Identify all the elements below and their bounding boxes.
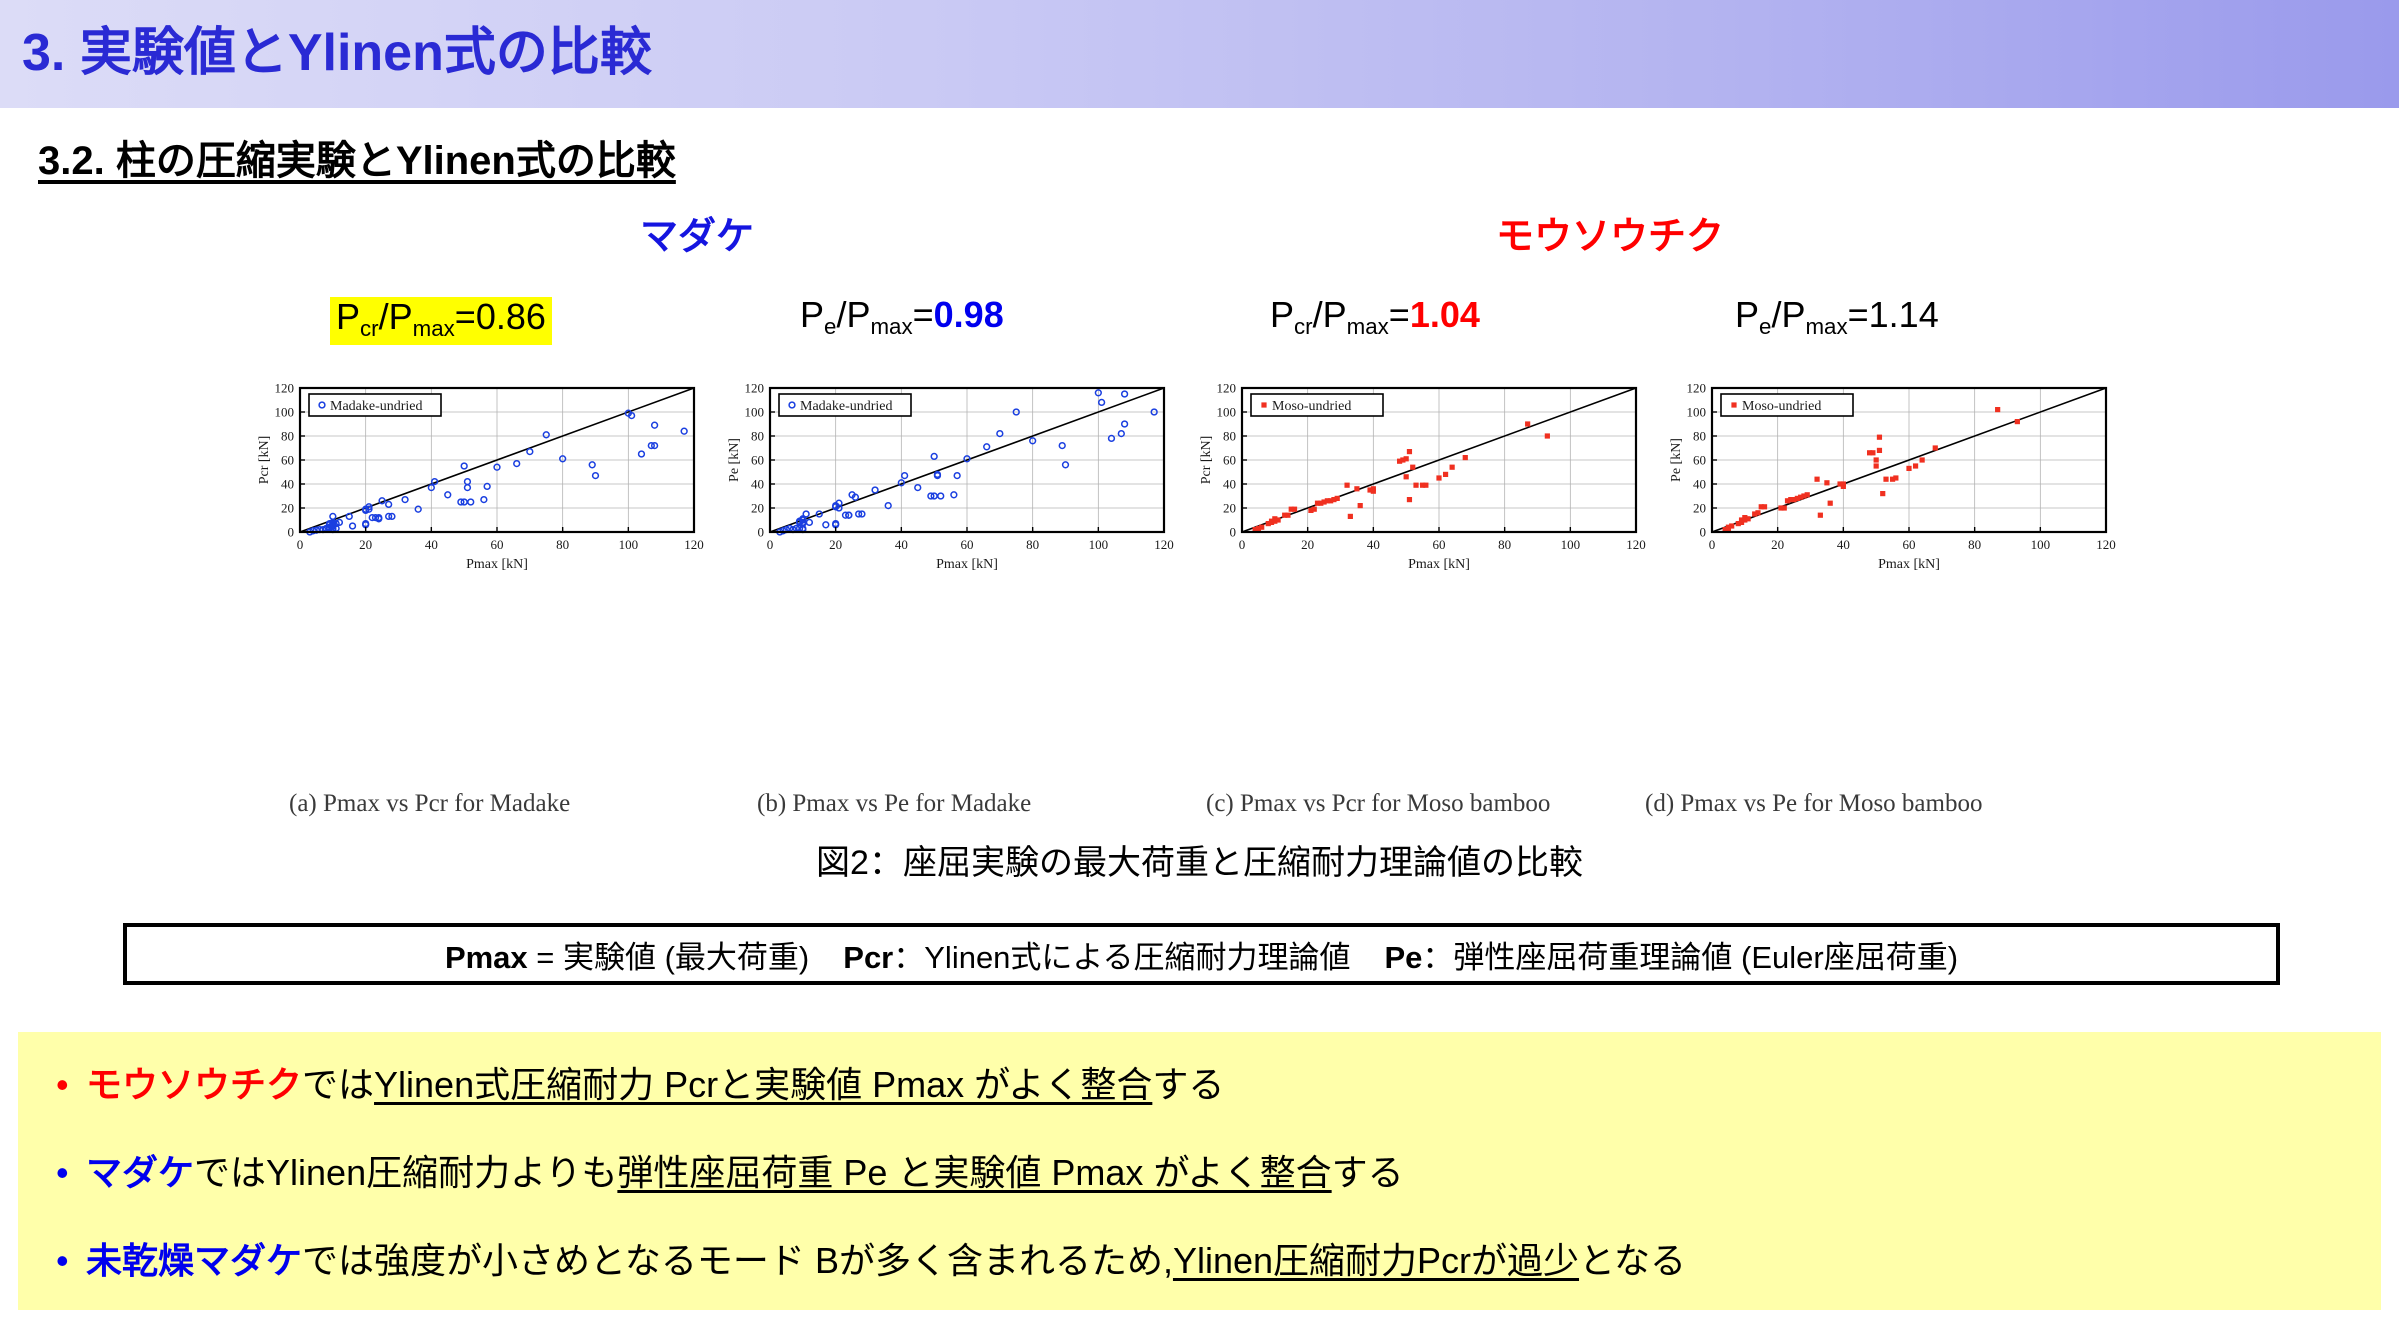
conclusion-bullet-2: • マダケ ではYlinen圧縮耐力よりも 弾性座屈荷重 Pe と実験値 Pma… bbox=[56, 1144, 1404, 1196]
ratio-numerator: P bbox=[800, 294, 824, 335]
svg-text:40: 40 bbox=[1693, 477, 1706, 492]
svg-text:80: 80 bbox=[1968, 537, 1981, 552]
svg-text:80: 80 bbox=[1026, 537, 1039, 552]
page-title: 3. 実験値とYlinen式の比較 bbox=[22, 10, 652, 85]
ratio-numerator-sub: e bbox=[1759, 314, 1771, 339]
scatter-plot-b: 020406080100120020406080100120Pmax [kN]P… bbox=[708, 378, 1178, 578]
svg-text:20: 20 bbox=[751, 501, 764, 516]
svg-text:120: 120 bbox=[275, 381, 295, 396]
ratio-value: 0.98 bbox=[934, 294, 1004, 335]
svg-text:120: 120 bbox=[1687, 381, 1707, 396]
ratio-denominator-sub: max bbox=[870, 314, 912, 339]
ratio-label-b: Pe/Pmax=0.98 bbox=[800, 297, 1004, 338]
ratio-slash: / bbox=[379, 296, 389, 337]
svg-text:0: 0 bbox=[1239, 537, 1246, 552]
svg-text:120: 120 bbox=[1154, 537, 1174, 552]
svg-text:100: 100 bbox=[2031, 537, 2050, 552]
ratio-denominator-sub: max bbox=[1805, 314, 1847, 339]
scatter-panel-c: 020406080100120020406080100120Pmax [kN]P… bbox=[1180, 378, 1650, 578]
term-pcr: Pcr bbox=[843, 940, 893, 975]
conclusion-keyword: モウソウチク bbox=[86, 1056, 302, 1108]
legend-label: Madake-undried bbox=[330, 399, 423, 414]
svg-text:120: 120 bbox=[684, 537, 704, 552]
svg-text:40: 40 bbox=[895, 537, 908, 552]
svg-text:80: 80 bbox=[1223, 429, 1236, 444]
section-subtitle: 3.2. 柱の圧縮実験とYlinen式の比較 bbox=[38, 128, 676, 186]
x-axis-label: Pmax [kN] bbox=[466, 557, 528, 572]
conclusion-tail-text: する bbox=[1332, 1144, 1404, 1196]
ratio-value: 0.86 bbox=[476, 296, 546, 337]
svg-text:100: 100 bbox=[1089, 537, 1109, 552]
svg-text:20: 20 bbox=[1693, 501, 1706, 516]
legend-label: Moso-undried bbox=[1272, 399, 1351, 414]
ratio-denominator-sub: max bbox=[1347, 314, 1389, 339]
y-axis-label: Pe [kN] bbox=[1669, 438, 1684, 482]
conclusion-keyword: マダケ bbox=[86, 1144, 194, 1196]
svg-text:120: 120 bbox=[1217, 381, 1237, 396]
scatter-plot-d: 020406080100120020406080100120Pmax [kN]P… bbox=[1650, 378, 2120, 578]
svg-text:80: 80 bbox=[281, 429, 294, 444]
figure-2-panel-strip: 020406080100120020406080100120Pmax [kN]P… bbox=[238, 378, 2184, 598]
bullet-marker-icon: • bbox=[56, 1067, 86, 1103]
y-axis-label: Pcr [kN] bbox=[257, 436, 272, 485]
ratio-denominator-sub: max bbox=[413, 316, 455, 341]
svg-text:100: 100 bbox=[1687, 405, 1707, 420]
ratio-label-d: Pe/Pmax=1.14 bbox=[1735, 297, 1939, 338]
conclusion-tail-text: する bbox=[1152, 1056, 1224, 1108]
ratio-denominator: P bbox=[1781, 294, 1805, 335]
scatter-plot-c: 020406080100120020406080100120Pmax [kN]P… bbox=[1180, 378, 1650, 578]
subcaption-b: (b) Pmax vs Pe for Madake bbox=[757, 790, 1031, 818]
svg-text:40: 40 bbox=[281, 477, 294, 492]
legend-label: Madake-undried bbox=[800, 399, 893, 414]
svg-text:40: 40 bbox=[425, 537, 438, 552]
ratio-label-a: Pcr/Pmax=0.86 bbox=[330, 297, 552, 345]
ratio-numerator-sub: cr bbox=[1294, 314, 1313, 339]
bullet-marker-icon: • bbox=[56, 1155, 86, 1191]
ratio-denominator: P bbox=[1323, 294, 1347, 335]
ratio-label-c: Pcr/Pmax=1.04 bbox=[1270, 297, 1480, 338]
y-axis-label: Pe [kN] bbox=[727, 438, 742, 482]
ratio-denominator: P bbox=[389, 296, 413, 337]
svg-text:60: 60 bbox=[1433, 537, 1446, 552]
ratio-numerator-sub: e bbox=[824, 314, 836, 339]
ratio-numerator: P bbox=[1735, 294, 1759, 335]
ratio-equals: = bbox=[913, 294, 934, 335]
svg-text:80: 80 bbox=[751, 429, 764, 444]
svg-text:80: 80 bbox=[556, 537, 569, 552]
svg-text:100: 100 bbox=[275, 405, 295, 420]
conclusion-mid-text: では bbox=[302, 1056, 374, 1108]
svg-text:120: 120 bbox=[1626, 537, 1646, 552]
svg-text:40: 40 bbox=[751, 477, 764, 492]
conclusion-mid-text: では強度が小さめとなるモード Bが多く含まれるため, bbox=[302, 1232, 1173, 1284]
legend-label: Moso-undried bbox=[1742, 399, 1821, 414]
ratio-slash: / bbox=[836, 294, 846, 335]
conclusion-underlined-text: Ylinen式圧縮耐力 Pcrと実験値 Pmax がよく整合 bbox=[374, 1056, 1152, 1108]
ratio-equals: = bbox=[1848, 294, 1869, 335]
svg-text:0: 0 bbox=[1700, 525, 1707, 540]
conclusion-underlined-text: 弾性座屈荷重 Pe と実験値 Pmax がよく整合 bbox=[617, 1144, 1331, 1196]
species-heading-madake: マダケ bbox=[640, 205, 754, 260]
ratio-numerator: P bbox=[336, 296, 360, 337]
svg-text:0: 0 bbox=[1230, 525, 1237, 540]
svg-text:100: 100 bbox=[1217, 405, 1237, 420]
subcaption-d: (d) Pmax vs Pe for Moso bamboo bbox=[1645, 790, 1982, 818]
ratio-numerator: P bbox=[1270, 294, 1294, 335]
term-pe-desc: ：弾性座屈荷重理論値 (Euler座屈荷重) bbox=[1422, 940, 1958, 975]
svg-text:120: 120 bbox=[745, 381, 765, 396]
ratio-slash: / bbox=[1313, 294, 1323, 335]
term-pmax: Pmax bbox=[445, 940, 528, 975]
svg-text:60: 60 bbox=[961, 537, 974, 552]
subcaption-c: (c) Pmax vs Pcr for Moso bamboo bbox=[1206, 790, 1550, 818]
conclusion-panel: • モウソウチク では Ylinen式圧縮耐力 Pcrと実験値 Pmax がよく… bbox=[18, 1032, 2381, 1310]
ratio-equals: = bbox=[1389, 294, 1410, 335]
svg-text:60: 60 bbox=[491, 537, 504, 552]
figure-caption: 図2：座屈実験の最大荷重と圧縮耐力理論値の比較 bbox=[0, 835, 2399, 884]
svg-text:60: 60 bbox=[281, 453, 294, 468]
svg-text:100: 100 bbox=[1561, 537, 1581, 552]
term-pcr-desc: ：Ylinen式による圧縮耐力理論値 bbox=[893, 940, 1350, 975]
conclusion-keyword: 未乾燥マダケ bbox=[86, 1232, 302, 1284]
conclusion-tail-text: となる bbox=[1579, 1232, 1686, 1284]
svg-text:60: 60 bbox=[1223, 453, 1236, 468]
conclusion-mid-text: ではYlinen圧縮耐力よりも bbox=[194, 1144, 617, 1196]
svg-text:60: 60 bbox=[1903, 537, 1916, 552]
svg-text:100: 100 bbox=[619, 537, 639, 552]
scatter-panel-a: 020406080100120020406080100120Pmax [kN]P… bbox=[238, 378, 708, 578]
svg-text:0: 0 bbox=[767, 537, 774, 552]
svg-text:20: 20 bbox=[359, 537, 372, 552]
svg-text:20: 20 bbox=[1223, 501, 1236, 516]
slide-header-band: 3. 実験値とYlinen式の比較 bbox=[0, 0, 2399, 108]
term-pmax-desc: = 実験値 (最大荷重) bbox=[528, 940, 810, 975]
svg-text:80: 80 bbox=[1498, 537, 1511, 552]
svg-text:60: 60 bbox=[751, 453, 764, 468]
ratio-value: 1.04 bbox=[1410, 294, 1480, 335]
definition-text: Pmax = 実験値 (最大荷重)Pcr：Ylinen式による圧縮耐力理論値Pe… bbox=[445, 932, 1958, 977]
svg-text:20: 20 bbox=[1301, 537, 1314, 552]
conclusion-bullet-3: • 未乾燥マダケ では強度が小さめとなるモード Bが多く含まれるため, Ylin… bbox=[56, 1232, 1686, 1284]
scatter-panel-d: 020406080100120020406080100120Pmax [kN]P… bbox=[1650, 378, 2120, 578]
svg-text:0: 0 bbox=[758, 525, 765, 540]
scatter-plot-a: 020406080100120020406080100120Pmax [kN]P… bbox=[238, 378, 708, 578]
svg-text:40: 40 bbox=[1223, 477, 1236, 492]
scatter-panel-b: 020406080100120020406080100120Pmax [kN]P… bbox=[708, 378, 1178, 578]
svg-text:20: 20 bbox=[1771, 537, 1784, 552]
y-axis-label: Pcr [kN] bbox=[1199, 436, 1214, 485]
svg-text:20: 20 bbox=[281, 501, 294, 516]
subcaption-a: (a) Pmax vs Pcr for Madake bbox=[289, 790, 570, 818]
svg-text:60: 60 bbox=[1693, 453, 1706, 468]
svg-text:40: 40 bbox=[1367, 537, 1380, 552]
svg-text:0: 0 bbox=[1709, 537, 1716, 552]
ratio-equals: = bbox=[455, 296, 476, 337]
conclusion-underlined-text: Ylinen圧縮耐力Pcrが過少 bbox=[1173, 1232, 1579, 1284]
svg-text:40: 40 bbox=[1837, 537, 1850, 552]
term-pe: Pe bbox=[1385, 940, 1423, 975]
species-heading-moso: モウソウチク bbox=[1496, 205, 1724, 260]
ratio-value: 1.14 bbox=[1869, 294, 1939, 335]
ratio-denominator: P bbox=[846, 294, 870, 335]
svg-text:20: 20 bbox=[829, 537, 842, 552]
svg-text:80: 80 bbox=[1693, 429, 1706, 444]
x-axis-label: Pmax [kN] bbox=[1878, 557, 1940, 572]
svg-text:0: 0 bbox=[288, 525, 295, 540]
svg-text:120: 120 bbox=[2096, 537, 2116, 552]
svg-text:100: 100 bbox=[745, 405, 765, 420]
ratio-slash: / bbox=[1771, 294, 1781, 335]
x-axis-label: Pmax [kN] bbox=[1408, 557, 1470, 572]
ratio-numerator-sub: cr bbox=[360, 316, 379, 341]
bullet-marker-icon: • bbox=[56, 1243, 86, 1279]
conclusion-bullet-1: • モウソウチク では Ylinen式圧縮耐力 Pcrと実験値 Pmax がよく… bbox=[56, 1056, 1224, 1108]
svg-text:0: 0 bbox=[297, 537, 304, 552]
x-axis-label: Pmax [kN] bbox=[936, 557, 998, 572]
definition-box: Pmax = 実験値 (最大荷重)Pcr：Ylinen式による圧縮耐力理論値Pe… bbox=[123, 923, 2280, 985]
